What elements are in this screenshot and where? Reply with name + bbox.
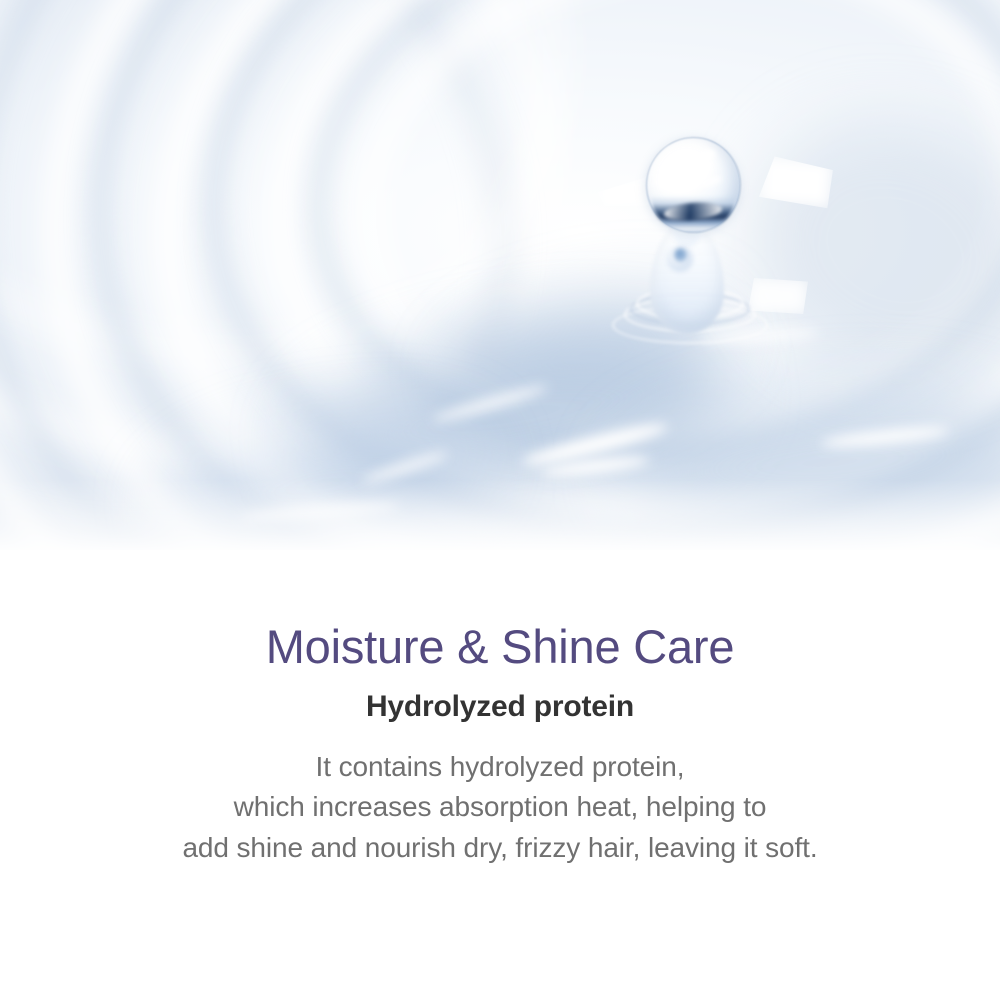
text-panel: Moisture & Shine Care Hydrolyzed protein… bbox=[0, 550, 1000, 1000]
water-column-blue-reflection bbox=[674, 248, 687, 262]
description-line-1: It contains hydrolyzed protein, bbox=[50, 747, 950, 788]
description-line-2: which increases absorption heat, helping… bbox=[50, 787, 950, 828]
feature-description: It contains hydrolyzed protein, which in… bbox=[50, 747, 950, 870]
hero-water-droplet-image bbox=[0, 0, 1000, 550]
product-feature-page: Moisture & Shine Care Hydrolyzed protein… bbox=[0, 0, 1000, 1000]
hero-bottom-fade bbox=[0, 480, 1000, 550]
feature-text-block: Moisture & Shine Care Hydrolyzed protein… bbox=[50, 620, 950, 869]
feature-subheadline: Hydrolyzed protein bbox=[50, 689, 950, 725]
splash-wing-right bbox=[748, 278, 808, 314]
description-line-3: add shine and nourish dry, frizzy hair, … bbox=[50, 828, 950, 869]
feature-headline: Moisture & Shine Care bbox=[50, 620, 950, 675]
